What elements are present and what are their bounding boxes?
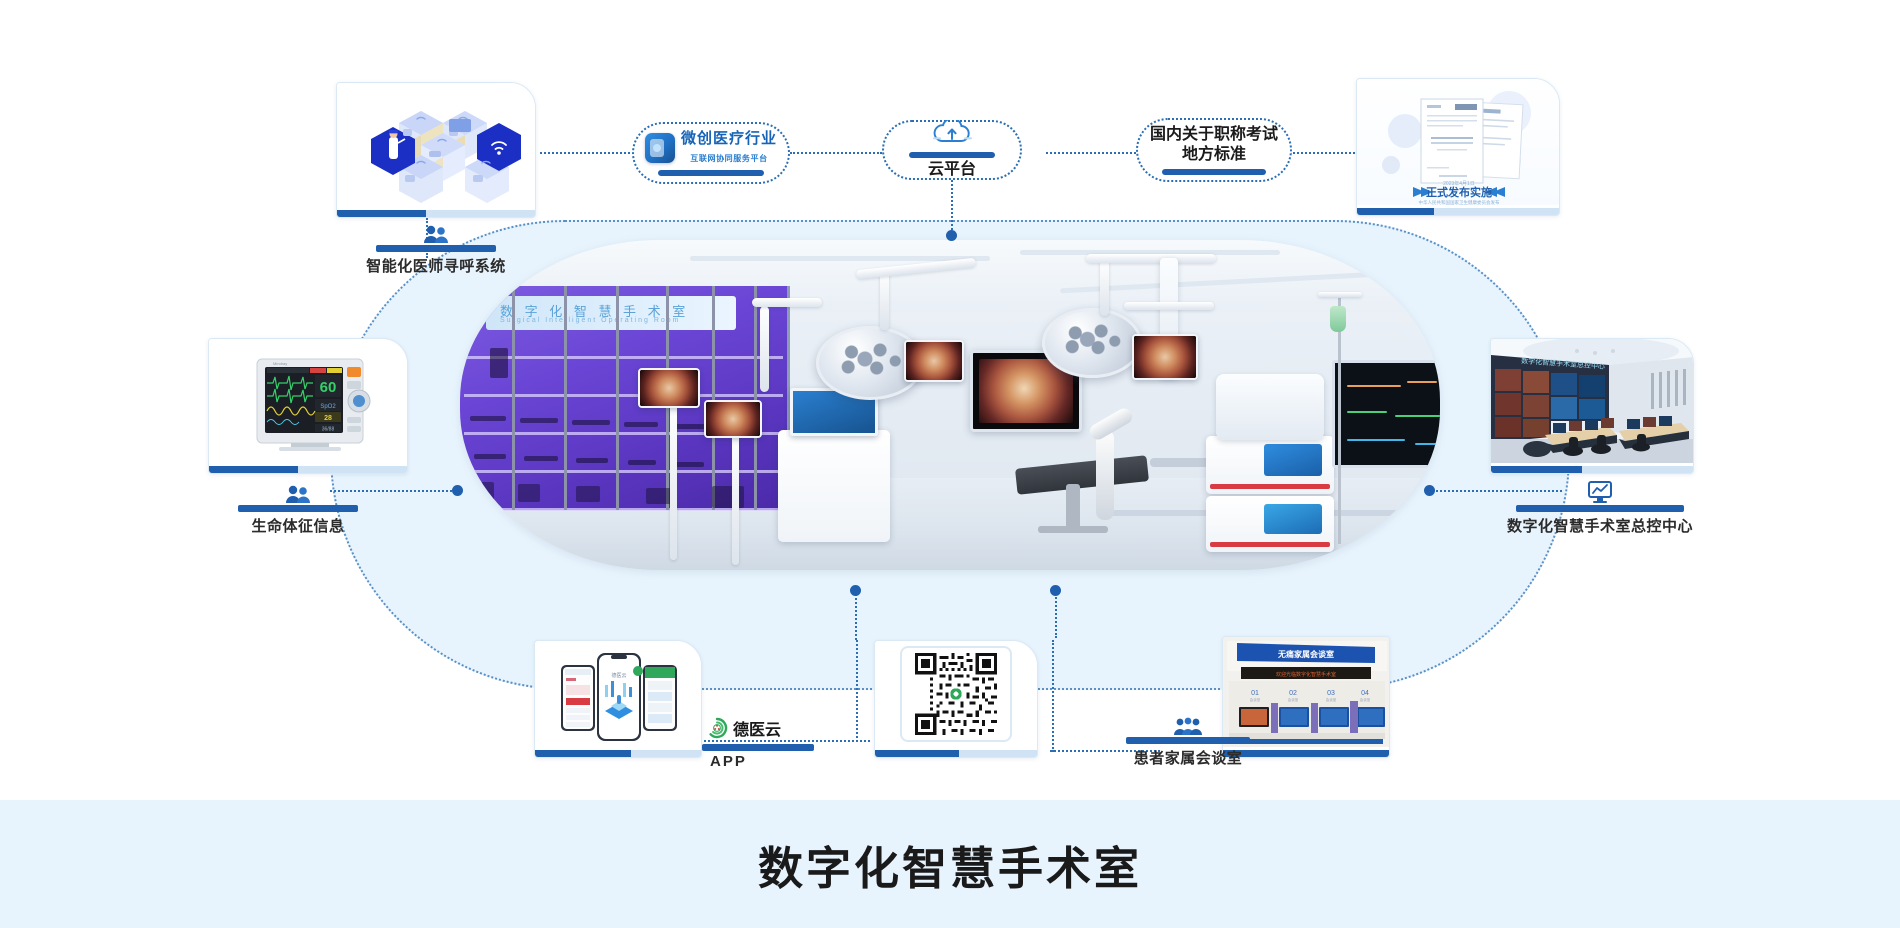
connector-cloud-down bbox=[951, 175, 953, 238]
svg-text:04: 04 bbox=[1361, 690, 1369, 697]
endoscope-monitor-center bbox=[904, 340, 964, 382]
equipment-tower-bottom bbox=[1206, 496, 1334, 552]
page-title: 数字化智慧手术室 bbox=[758, 832, 1142, 897]
connector-card-to-pill-left bbox=[540, 152, 630, 154]
cloud-platform-label: 云平台 bbox=[909, 160, 995, 180]
weichuang-subtitle: 互联网协同服务平台 bbox=[690, 154, 767, 163]
svg-text:会谈室: 会谈室 bbox=[1288, 697, 1299, 702]
svg-text:会谈室: 会谈室 bbox=[1360, 697, 1371, 702]
svg-text:会谈室: 会谈室 bbox=[1250, 697, 1261, 702]
svg-text:中华人民共和国国家卫生健康委员会发布: 中华人民共和国国家卫生健康委员会发布 bbox=[1419, 199, 1500, 205]
card-qr-code[interactable] bbox=[874, 640, 1038, 758]
label-vital-signs-info-text: 生命体征信息 bbox=[200, 515, 396, 536]
local-standard-line1: 国内关于职称考试 bbox=[1150, 125, 1278, 145]
monitor-chart-icon bbox=[1470, 480, 1730, 504]
or-signage: 数 字 化 智 慧 手 术 室 Surgical Intelligent Ope… bbox=[486, 296, 736, 330]
svg-text:2023年4月1日: 2023年4月1日 bbox=[1443, 180, 1475, 187]
label-or-control-center: 数字化智慧手术室总控中心 bbox=[1470, 480, 1730, 536]
endoscope-monitor-left2 bbox=[704, 400, 762, 438]
svg-text:01: 01 bbox=[1251, 690, 1259, 697]
label-or-control-center-text: 数字化智慧手术室总控中心 bbox=[1470, 515, 1730, 536]
surgical-light-2 bbox=[1042, 308, 1142, 378]
infographic-stage: 数 字 化 智 慧 手 术 室 Surgical Intelligent Ope… bbox=[0, 0, 1900, 928]
connector-qr-side bbox=[1052, 640, 1054, 752]
local-standard-line2: 地方标准 bbox=[1150, 145, 1278, 165]
card-vital-signs-monitor[interactable]: 60 SpO2 28 36/88 Mindray bbox=[208, 338, 408, 474]
svg-text:德医云: 德医云 bbox=[611, 672, 626, 679]
card-deyiyun-app[interactable]: 德医云 bbox=[534, 640, 702, 758]
label-family-consultation-room-text: 患者家属会谈室 bbox=[1100, 747, 1276, 768]
people-group-icon bbox=[1100, 716, 1276, 736]
endoscope-monitor-left bbox=[638, 368, 700, 408]
or-equipment-cabinet bbox=[778, 430, 890, 542]
operating-room-photo: 数 字 化 智 慧 手 术 室 Surgical Intelligent Ope… bbox=[460, 240, 1440, 570]
svg-text:03: 03 bbox=[1327, 690, 1335, 697]
connector-dot-qr bbox=[1050, 585, 1061, 596]
or-signage-en: Surgical Intelligent Operating Room bbox=[500, 317, 681, 324]
deyiyun-brand-text: 德医云 bbox=[733, 716, 781, 740]
label-deyiyun-app: 德医云 APP bbox=[700, 716, 850, 770]
qr-code-icon bbox=[912, 650, 1000, 738]
connector-qr-up bbox=[1055, 590, 1057, 638]
connector-pill-mid-to-right bbox=[1046, 152, 1136, 154]
instrument-cabinet: 数 字 化 智 慧 手 术 室 Surgical Intelligent Ope… bbox=[460, 286, 790, 510]
connector-app-up bbox=[855, 590, 857, 640]
vital-signs-wall-display bbox=[1332, 360, 1440, 468]
card-doctor-paging-system[interactable] bbox=[336, 82, 536, 218]
cloud-upload-icon bbox=[930, 120, 974, 146]
node-weichuang-platform[interactable]: 微创医疗行业 互联网协同服务平台 bbox=[632, 122, 790, 184]
people-pair-icon bbox=[336, 224, 536, 244]
svg-text:28: 28 bbox=[324, 415, 332, 422]
svg-text:36/88: 36/88 bbox=[322, 427, 335, 433]
svg-text:正式发布实施: 正式发布实施 bbox=[1426, 185, 1492, 199]
people-pair-icon bbox=[200, 484, 396, 504]
card-or-control-center[interactable]: 数字化智慧手术室总控中心 bbox=[1490, 338, 1694, 474]
connector-dot-cloud bbox=[946, 230, 957, 241]
svg-text:欢迎光临数字化智慧手术室: 欢迎光临数字化智慧手术室 bbox=[1276, 671, 1336, 678]
app-logo-icon bbox=[645, 133, 675, 163]
label-deyiyun-app-text: APP bbox=[700, 753, 850, 770]
weichuang-title: 微创医疗行业 bbox=[681, 130, 777, 147]
node-local-standard[interactable]: 国内关于职称考试 地方标准 bbox=[1136, 118, 1292, 182]
connector-pill-left-to-mid bbox=[790, 152, 882, 154]
deyiyun-logo-icon bbox=[706, 717, 728, 739]
connector-app-side bbox=[856, 640, 858, 742]
connector-dot-control bbox=[1424, 485, 1435, 496]
svg-text:会谈室: 会谈室 bbox=[1326, 697, 1337, 702]
svg-text:02: 02 bbox=[1289, 690, 1297, 697]
label-vital-signs-info: 生命体征信息 bbox=[200, 484, 396, 536]
label-doctor-paging-system: 智能化医师寻呼系统 bbox=[336, 224, 536, 276]
endoscope-monitor-right bbox=[1132, 334, 1198, 380]
svg-text:Mindray: Mindray bbox=[273, 361, 287, 366]
node-cloud-platform[interactable]: 云平台 bbox=[882, 120, 1022, 180]
svg-text:60: 60 bbox=[320, 379, 337, 396]
equipment-tower-top bbox=[1206, 436, 1334, 494]
card-standards-documents[interactable]: 正式发布实施 2023年4月1日 中华人民共和国国家卫生健康委员会发布 bbox=[1356, 78, 1560, 216]
iv-bag bbox=[1330, 306, 1346, 332]
caption-bar: 数字化智慧手术室 bbox=[0, 800, 1900, 928]
svg-text:无痛家属会谈室: 无痛家属会谈室 bbox=[1277, 649, 1334, 659]
label-family-consultation-room: 患者家属会谈室 bbox=[1100, 716, 1276, 768]
svg-text:SpO2: SpO2 bbox=[320, 404, 336, 410]
surgical-robot-arm bbox=[1096, 430, 1114, 520]
connector-dot-app bbox=[850, 585, 861, 596]
label-doctor-paging-system-text: 智能化医师寻呼系统 bbox=[336, 255, 536, 276]
connector-dot-vitals bbox=[452, 485, 463, 496]
